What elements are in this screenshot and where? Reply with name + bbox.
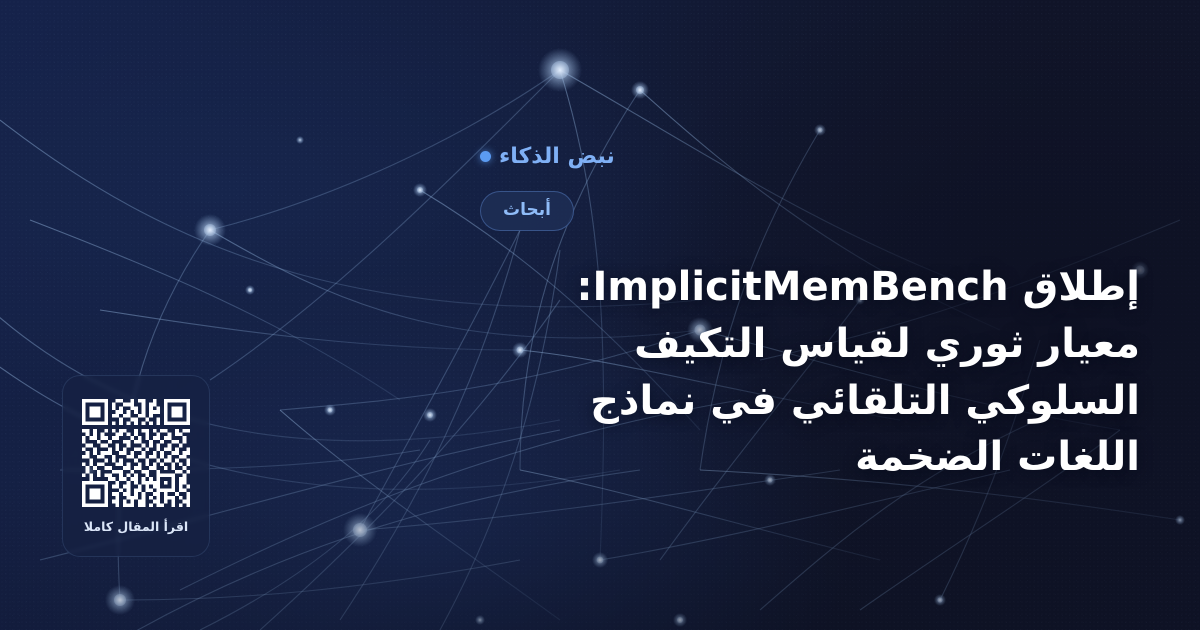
page-title: إطلاق ImplicitMemBench: معيار ثوري لقياس… [480,259,1140,486]
qr-card[interactable]: اقرأ المقال كاملا [62,375,210,557]
category-badge[interactable]: أبحاث [480,191,574,231]
qr-code-icon[interactable] [82,399,190,507]
content-column: نبض الذكاء أبحاث إطلاق ImplicitMemBench:… [480,0,1200,630]
qr-caption: اقرأ المقال كاملا [84,519,188,534]
brand-logo: نبض الذكاء [480,144,615,169]
social-share-card: نبض الذكاء أبحاث إطلاق ImplicitMemBench:… [0,0,1200,630]
brand-name: نبض الذكاء [499,144,615,169]
brand-dot-icon [480,151,491,162]
